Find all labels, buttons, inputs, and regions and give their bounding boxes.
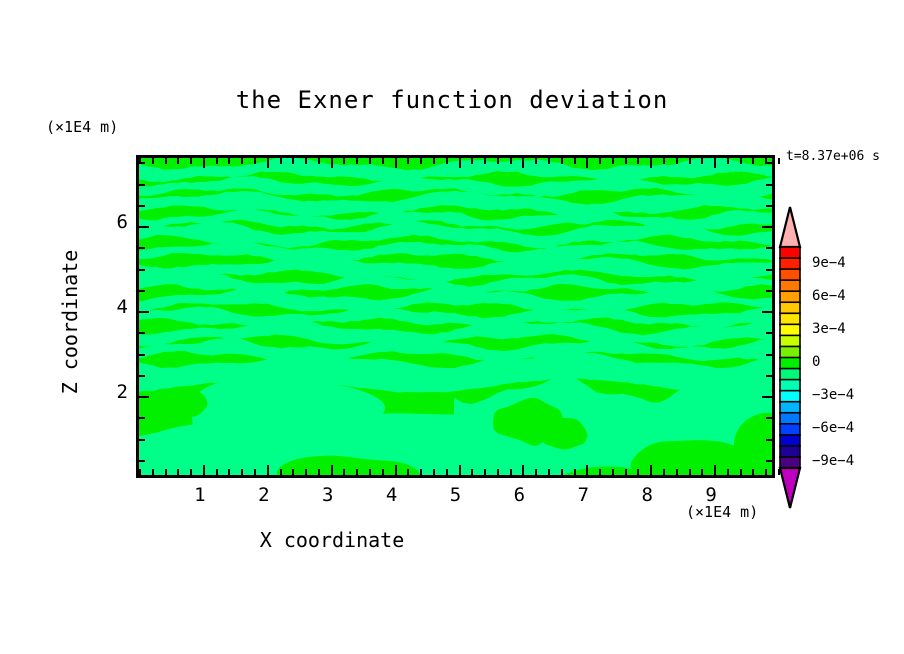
x-minor-tick-top [152,158,154,164]
x-minor-tick-top [420,158,422,164]
x-axis-label: X coordinate [0,528,664,552]
x-minor-tick-top [637,158,639,164]
colorbar-band-3 [780,280,800,291]
y-minor-tick-right [766,247,772,249]
colorbar-tick-label: 9e−4 [812,255,846,271]
x-minor-tick-top [446,158,448,164]
x-minor-tick-top [497,158,499,164]
x-major-tick-top [714,158,716,168]
x-minor-tick [663,469,665,475]
x-tick-label: 4 [377,484,407,506]
x-minor-tick-top [382,158,384,164]
x-major-tick [459,465,461,475]
colorbar-tick-label: 0 [812,354,820,370]
x-tick-label: 5 [441,484,471,506]
y-major-tick [139,396,149,398]
x-minor-tick-top [752,158,754,164]
x-minor-tick-top [625,158,627,164]
x-tick-label: 2 [249,484,279,506]
y-minor-tick [139,184,145,186]
time-annotation: t=8.37e+06 s [786,149,880,164]
y-minor-tick [139,247,145,249]
colorbar-band-8 [780,335,800,346]
colorbar-tick-label: 3e−4 [812,321,846,337]
contour-plot-area [136,155,775,478]
y-minor-tick-right [766,354,772,356]
x-minor-tick [676,469,678,475]
colorbar-tick-label: 6e−4 [812,288,846,304]
contour-field [139,158,772,475]
x-minor-tick [484,469,486,475]
x-minor-tick [165,469,167,475]
x-minor-tick-top [228,158,230,164]
x-tick-label: 6 [504,484,534,506]
x-minor-tick-top [254,158,256,164]
x-tick-label: 9 [696,484,726,506]
y-minor-tick [139,269,145,271]
x-minor-tick-top [701,158,703,164]
x-minor-tick [701,469,703,475]
x-minor-tick-top [676,158,678,164]
y-minor-tick [139,205,145,207]
x-minor-tick-top [599,158,601,164]
colorbar-tick-label: −6e−4 [812,420,854,436]
x-minor-tick [727,469,729,475]
x-minor-tick-top [369,158,371,164]
colorbar-band-12 [780,380,800,391]
x-minor-tick-top [190,158,192,164]
x-tick-label: 3 [313,484,343,506]
y-major-tick [139,311,149,313]
colorbar-band-13 [780,391,800,402]
y-minor-tick [139,417,145,419]
x-major-tick-top [586,158,588,168]
x-minor-tick-top [280,158,282,164]
x-minor-tick-top [177,158,179,164]
x-minor-tick [599,469,601,475]
y-minor-tick-right [766,269,772,271]
x-major-tick [203,465,205,475]
x-minor-tick [637,469,639,475]
x-major-tick [714,465,716,475]
x-minor-tick-top [165,158,167,164]
x-minor-tick-top [548,158,550,164]
y-major-tick-right [762,396,772,398]
x-minor-tick-top [305,158,307,164]
y-axis-units-label: (×1E4 m) [46,118,118,136]
x-tick-label: 8 [632,484,662,506]
colorbar-band-7 [780,324,800,335]
y-minor-tick [139,162,145,164]
x-minor-tick [152,469,154,475]
y-tick-label: 6 [104,211,128,233]
colorbar-band-2 [780,269,800,280]
colorbar-band-6 [780,313,800,324]
y-minor-tick [139,332,145,334]
x-major-tick-top [650,158,652,168]
x-minor-tick [574,469,576,475]
x-tick-label: 7 [568,484,598,506]
x-minor-tick-top [216,158,218,164]
x-minor-tick [625,469,627,475]
y-minor-tick-right [766,290,772,292]
y-minor-tick [139,354,145,356]
x-major-tick [331,465,333,475]
colorbar-band-18 [780,446,800,457]
x-minor-tick [369,469,371,475]
x-minor-tick [190,469,192,475]
x-minor-tick [740,469,742,475]
y-minor-tick [139,375,145,377]
y-tick-label: 4 [104,296,128,318]
colorbar-band-10 [780,358,800,369]
x-major-tick [650,465,652,475]
x-minor-tick [356,469,358,475]
x-minor-tick-top [740,158,742,164]
x-minor-tick [318,469,320,475]
y-axis-label: Z coordinate [58,192,82,452]
x-minor-tick-top [510,158,512,164]
y-major-tick-right [762,311,772,313]
y-minor-tick [139,290,145,292]
y-tick-label: 2 [104,381,128,403]
x-minor-tick-top [407,158,409,164]
x-minor-tick [280,469,282,475]
x-minor-tick [765,469,767,475]
x-major-tick-top [331,158,333,168]
colorbar-over-arrow [780,207,800,247]
colorbar-under-arrow [780,468,800,508]
x-minor-tick-top [241,158,243,164]
x-major-tick [522,465,524,475]
x-minor-tick-top [292,158,294,164]
colorbar-band-17 [780,435,800,446]
x-minor-tick-top [612,158,614,164]
colorbar[interactable] [776,205,804,510]
x-minor-tick-top [343,158,345,164]
x-minor-tick-top [535,158,537,164]
x-minor-tick-top [689,158,691,164]
x-minor-tick-top [356,158,358,164]
x-tick-label: 1 [185,484,215,506]
x-minor-tick [510,469,512,475]
x-major-tick [267,465,269,475]
x-minor-tick [548,469,550,475]
y-minor-tick-right [766,460,772,462]
x-minor-tick [561,469,563,475]
y-minor-tick-right [766,439,772,441]
colorbar-band-9 [780,346,800,357]
x-minor-tick [139,469,141,475]
y-minor-tick-right [766,205,772,207]
x-minor-tick-top [318,158,320,164]
x-minor-tick [420,469,422,475]
colorbar-band-1 [780,258,800,269]
x-minor-tick [407,469,409,475]
x-minor-tick [305,469,307,475]
x-minor-tick [446,469,448,475]
y-minor-tick [139,439,145,441]
x-major-tick [586,465,588,475]
x-minor-tick [292,469,294,475]
colorbar-tick-label: −9e−4 [812,453,854,469]
colorbar-band-0 [780,247,800,258]
x-minor-tick [343,469,345,475]
x-major-tick-top [203,158,205,168]
x-minor-tick-top [561,158,563,164]
x-minor-tick [241,469,243,475]
x-minor-tick [612,469,614,475]
x-minor-tick [535,469,537,475]
colorbar-band-5 [780,302,800,313]
y-major-tick-right [762,226,772,228]
x-minor-tick [433,469,435,475]
x-minor-tick [471,469,473,475]
x-minor-tick-top [663,158,665,164]
colorbar-band-11 [780,369,800,380]
x-major-tick [395,465,397,475]
x-minor-tick [497,469,499,475]
x-minor-tick-top [778,158,780,164]
x-major-tick-top [267,158,269,168]
x-minor-tick [216,469,218,475]
colorbar-band-4 [780,291,800,302]
x-minor-tick-top [471,158,473,164]
x-minor-tick-top [433,158,435,164]
y-minor-tick-right [766,375,772,377]
colorbar-band-16 [780,424,800,435]
x-minor-tick-top [727,158,729,164]
colorbar-band-19 [780,457,800,468]
colorbar-band-14 [780,402,800,413]
x-minor-tick [228,469,230,475]
x-minor-tick [382,469,384,475]
y-major-tick [139,226,149,228]
x-minor-tick-top [574,158,576,164]
x-major-tick-top [522,158,524,168]
x-major-tick-top [395,158,397,168]
x-minor-tick [177,469,179,475]
chart-title: the Exner function deviation [0,86,904,114]
x-minor-tick [254,469,256,475]
x-major-tick-top [459,158,461,168]
colorbar-tick-label: −3e−4 [812,387,854,403]
x-minor-tick [752,469,754,475]
x-minor-tick [689,469,691,475]
y-minor-tick-right [766,417,772,419]
y-minor-tick-right [766,332,772,334]
colorbar-band-15 [780,413,800,424]
y-minor-tick [139,460,145,462]
x-minor-tick-top [484,158,486,164]
y-minor-tick-right [766,184,772,186]
y-minor-tick-right [766,162,772,164]
